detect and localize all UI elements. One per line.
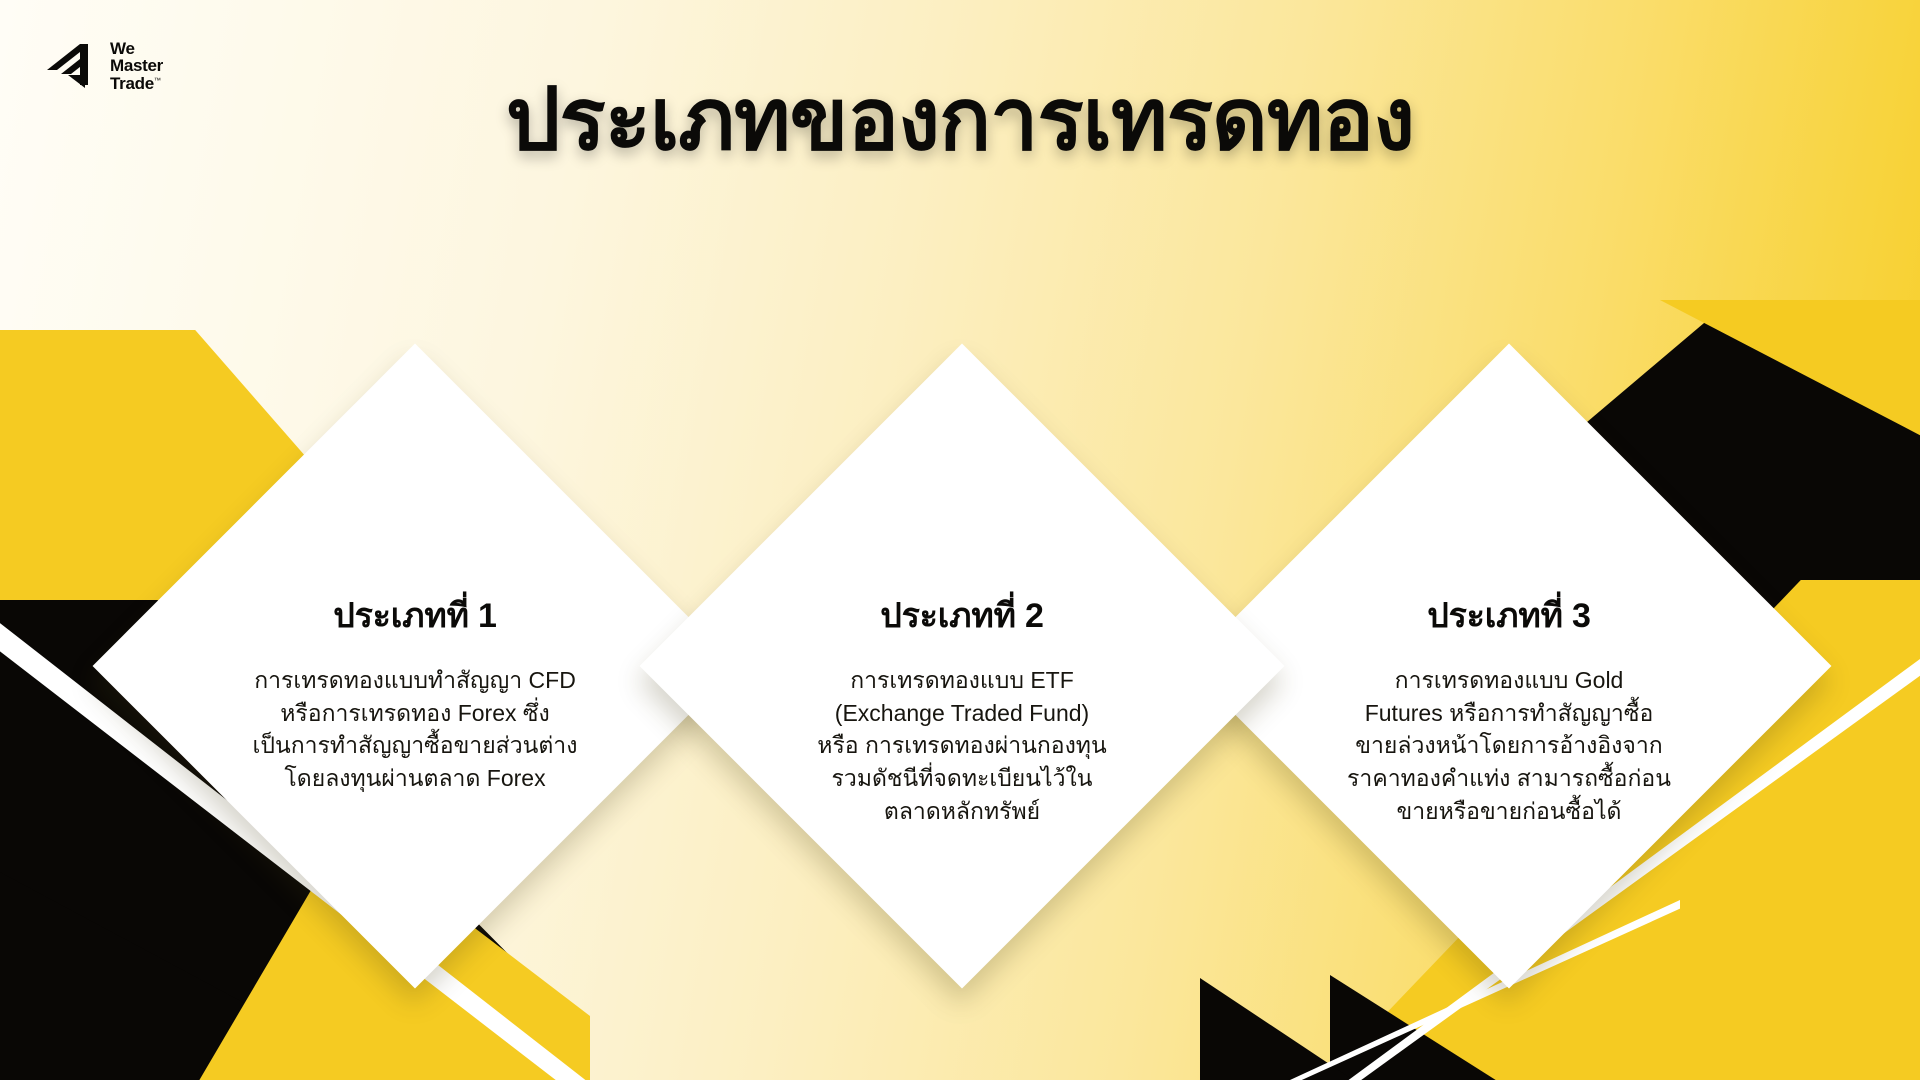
card-1-body-line-3: เป็นการทำสัญญาซื้อขายส่วนต่าง	[205, 729, 625, 762]
card-1-body-line-4: โดยลงทุนผ่านตลาด Forex	[205, 762, 625, 795]
card-1-heading: ประเภทที่ 1	[333, 588, 497, 642]
card-2-body-line-3: หรือ การเทรดทองผ่านกองทุน	[752, 729, 1172, 762]
card-2-body-line-2: (Exchange Traded Fund)	[752, 697, 1172, 730]
brand-name-line-2: Master	[110, 56, 163, 75]
card-2-body-line-5: ตลาดหลักทรัพย์	[752, 795, 1172, 828]
card-1-body-line-1: การเทรดทองแบบทำสัญญา CFD	[205, 664, 625, 697]
card-3-heading: ประเภทที่ 3	[1427, 588, 1591, 642]
brand-name-line-1: We	[110, 39, 135, 58]
card-2-body: การเทรดทองแบบ ETF (Exchange Traded Fund)…	[752, 664, 1172, 827]
brand-logo[interactable]: We Master Trade™	[44, 40, 163, 92]
brand-wordmark: We Master Trade™	[110, 40, 163, 92]
card-2-heading: ประเภทที่ 2	[880, 588, 1044, 642]
slide-canvas: We Master Trade™ ประเภทของการเทรดทอง ประ…	[0, 0, 1920, 1080]
card-2-body-line-4: รวมดัชนีที่จดทะเบียนไว้ใน	[752, 762, 1172, 795]
card-3-body-line-4: ราคาทองคำแท่ง สามารถซื้อก่อน	[1299, 762, 1719, 795]
card-1-body: การเทรดทองแบบทำสัญญา CFD หรือการเทรดทอง …	[205, 664, 625, 795]
brand-name-line-3: Trade	[110, 74, 154, 93]
card-3-body-line-3: ขายล่วงหน้าโดยการอ้างอิงจาก	[1299, 729, 1719, 762]
page-title: ประเภทของการเทรดทอง	[0, 50, 1920, 187]
trademark-symbol: ™	[154, 77, 161, 84]
wemastertrade-arrow-logo-icon	[44, 41, 100, 91]
card-3-body-line-1: การเทรดทองแบบ Gold	[1299, 664, 1719, 697]
card-3-body: การเทรดทองแบบ Gold Futures หรือการทำสัญญ…	[1299, 664, 1719, 827]
card-1-body-line-2: หรือการเทรดทอง Forex ซึ่ง	[205, 697, 625, 730]
card-3-body-line-5: ขายหรือขายก่อนซื้อได้	[1299, 795, 1719, 828]
card-2-body-line-1: การเทรดทองแบบ ETF	[752, 664, 1172, 697]
diamond-card-2[interactable]: ประเภทที่ 2 การเทรดทองแบบ ETF (Exchange …	[640, 344, 1285, 989]
card-3-body-line-2: Futures หรือการทำสัญญาซื้อ	[1299, 697, 1719, 730]
